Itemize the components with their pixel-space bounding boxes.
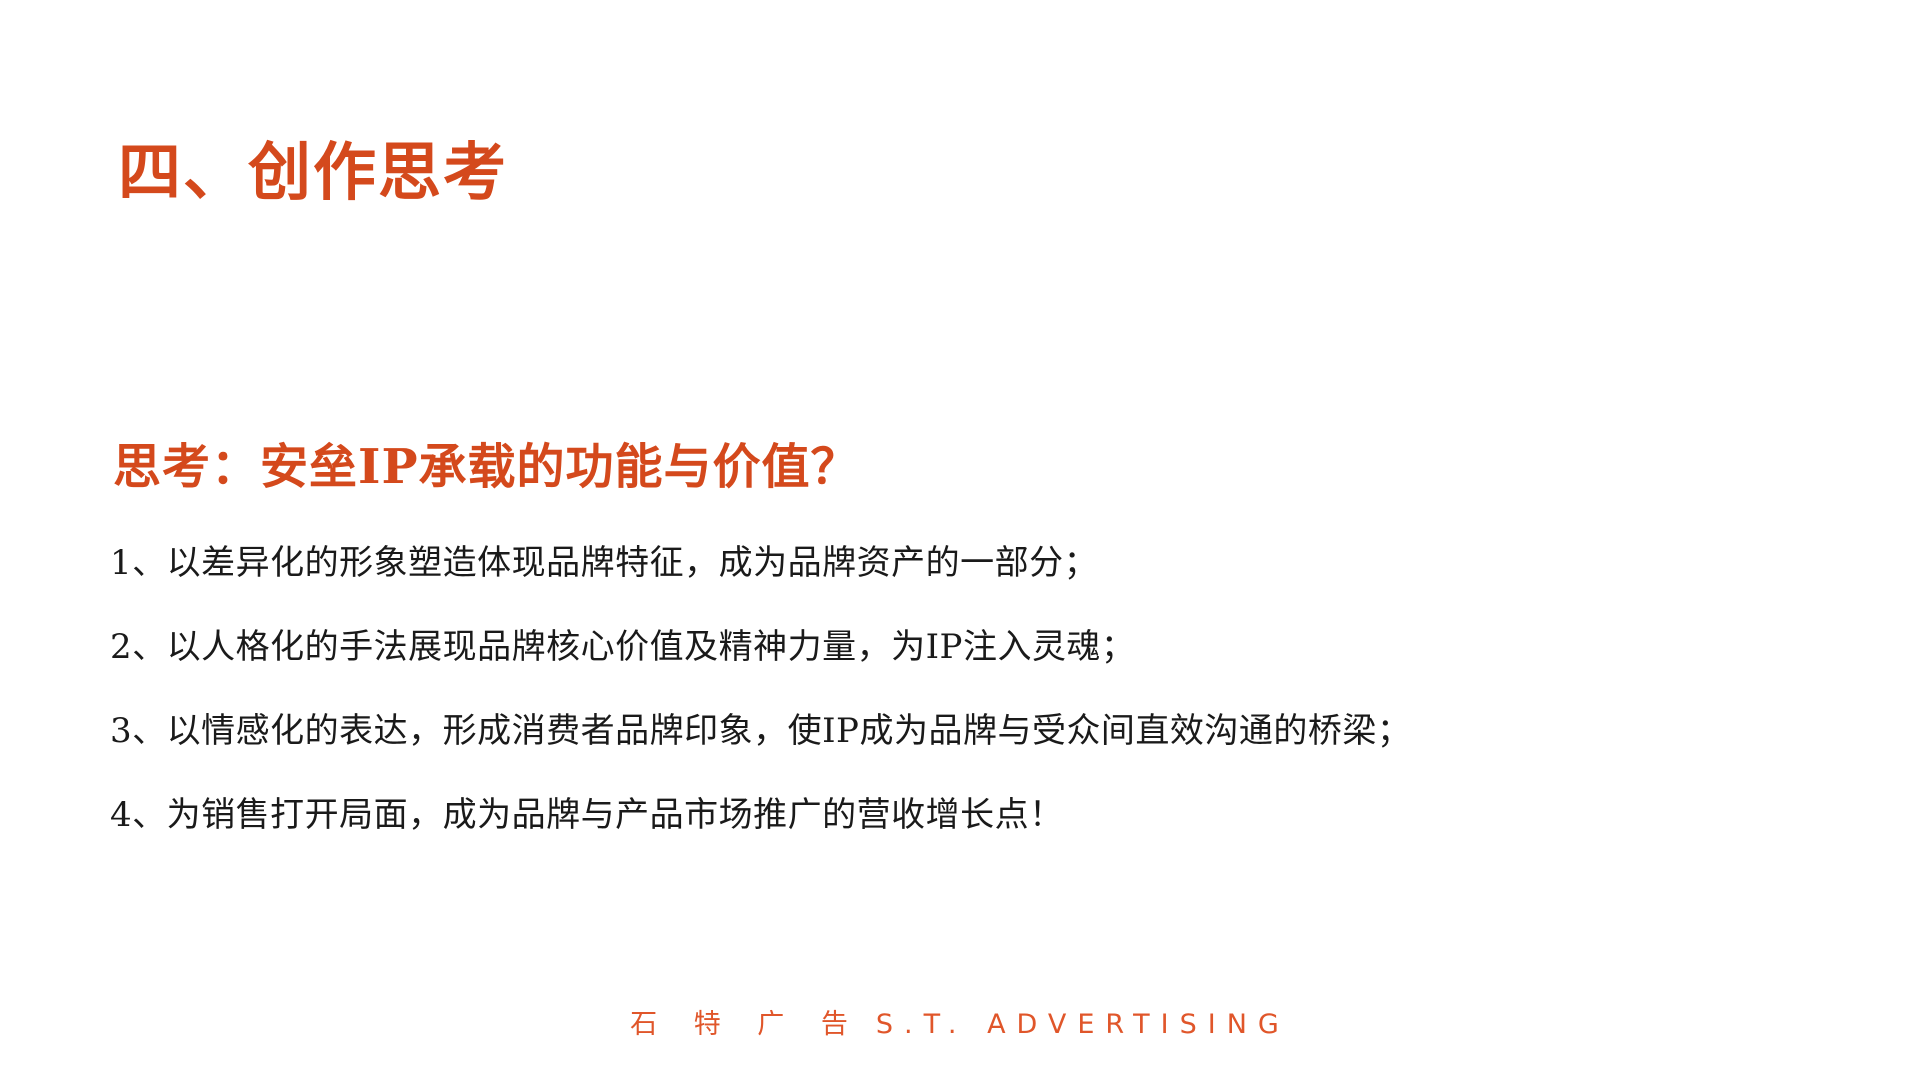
- page-title: 四、创作思考: [118, 138, 508, 209]
- list-item: 2、以人格化的手法展现品牌核心价值及精神力量，为IP注入灵魂；: [110, 630, 1810, 664]
- slide-footer: 石 特 广 告S.T. ADVERTISING: [0, 1002, 1920, 1041]
- points-list: 1、以差异化的形象塑造体现品牌特征，成为品牌资产的一部分； 2、以人格化的手法展…: [110, 512, 1810, 832]
- footer-brand-chinese: 石 特 广 告: [630, 1009, 862, 1040]
- footer-branding: 石 特 广 告S.T. ADVERTISING: [630, 1002, 1290, 1041]
- list-item: 4、为销售打开局面，成为品牌与产品市场推广的营收增长点！: [110, 798, 1810, 832]
- question-heading: 思考：安垒IP承载的功能与价值？: [113, 440, 860, 495]
- list-item: 3、以情感化的表达，形成消费者品牌印象，使IP成为品牌与受众间直效沟通的桥梁；: [110, 714, 1810, 748]
- footer-brand-english: S.T. ADVERTISING: [862, 1009, 1290, 1040]
- slide-canvas: 四、创作思考 思考：安垒IP承载的功能与价值？ 1、以差异化的形象塑造体现品牌特…: [0, 0, 1920, 1080]
- list-item: 1、以差异化的形象塑造体现品牌特征，成为品牌资产的一部分；: [110, 546, 1810, 580]
